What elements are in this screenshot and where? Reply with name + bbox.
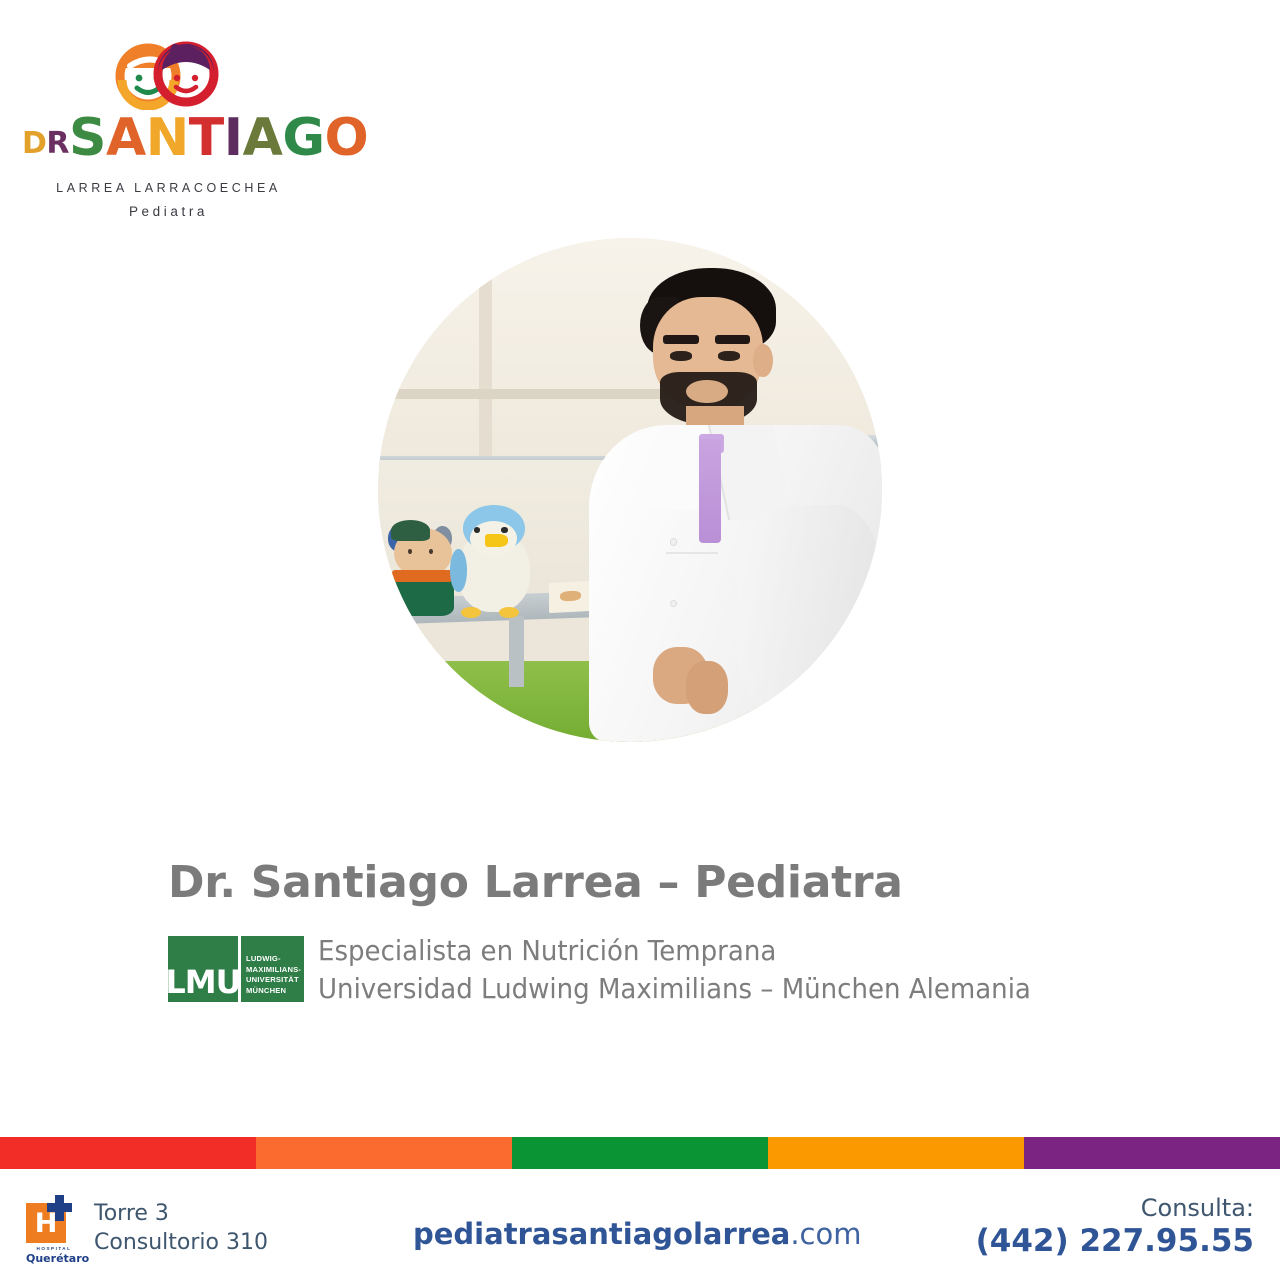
hospital-queretaro-logo: H HOSPITAL Querétaro <box>26 1195 82 1265</box>
credential-text: Especialista en Nutrición Temprana Unive… <box>318 932 1085 1008</box>
website-name: pediatrasantiagolarrea <box>413 1217 790 1251</box>
photo-canvas <box>378 238 882 742</box>
hospital-name: Querétaro <box>26 1252 82 1265</box>
consulta-label: Consulta: <box>976 1193 1254 1223</box>
address-block: Torre 3 Consultorio 310 <box>94 1199 268 1257</box>
footer: H HOSPITAL Querétaro Torre 3 Consultorio… <box>0 1169 1280 1280</box>
footer-contact: Consulta: (442) 227.95.55 <box>976 1193 1254 1259</box>
logo-wordmark: DRSANTIAGO <box>22 112 312 172</box>
credential-line-2: Universidad Ludwing Maximilians – Münche… <box>318 970 1031 1008</box>
lmu-name-square: LUDWIG- MAXIMILIANS- UNIVERSITÄT MÜNCHEN <box>241 936 304 1002</box>
plush-penguin-toy <box>449 505 540 616</box>
page-title: Dr. Santiago Larrea – Pediatra <box>168 858 903 908</box>
brand-color-bar <box>0 1137 1280 1169</box>
hospital-small-label: HOSPITAL <box>26 1246 82 1251</box>
colorbar-segment-orange <box>256 1137 512 1169</box>
lmu-line-1: LUDWIG- <box>246 954 301 965</box>
credential-line-1: Especialista en Nutrición Temprana <box>318 932 1031 970</box>
lmu-line-3: UNIVERSITÄT <box>246 975 301 986</box>
lmu-mark-text: LMU <box>165 967 240 997</box>
credential-block: LMU LUDWIG- MAXIMILIANS- UNIVERSITÄT MÜN… <box>168 932 1085 1008</box>
logo-surname: LARREA LARRACOECHEA <box>22 181 312 195</box>
colorbar-segment-amber <box>768 1137 1024 1169</box>
two-children-faces-icon <box>108 30 226 110</box>
doctor-figure <box>570 268 882 742</box>
doctor-portrait-photo <box>378 238 882 742</box>
hospital-mark-icon: H <box>26 1195 74 1243</box>
logo-specialty: Pediatra <box>22 204 312 219</box>
colorbar-segment-green <box>512 1137 768 1169</box>
website-link[interactable]: pediatrasantiagolarrea.com <box>413 1217 861 1251</box>
colorbar-segment-purple <box>1024 1137 1280 1169</box>
lmu-line-2: MAXIMILIANS- <box>246 965 301 976</box>
exam-table-leg <box>509 616 524 687</box>
address-line-2: Consultorio 310 <box>94 1228 268 1257</box>
lmu-logo: LMU LUDWIG- MAXIMILIANS- UNIVERSITÄT MÜN… <box>168 936 304 1002</box>
website-tld: .com <box>790 1217 861 1251</box>
window-mullion-vertical <box>479 238 492 460</box>
footer-location: H HOSPITAL Querétaro Torre 3 Consultorio… <box>26 1195 268 1265</box>
colorbar-segment-red <box>0 1137 256 1169</box>
brand-logo: DRSANTIAGO LARREA LARRACOECHEA Pediatra <box>22 30 312 219</box>
phone-number[interactable]: (442) 227.95.55 <box>976 1223 1254 1259</box>
lmu-mark-square: LMU <box>168 936 238 1002</box>
logo-prefix: DR <box>22 126 69 161</box>
address-line-1: Torre 3 <box>94 1199 268 1228</box>
lmu-line-4: MÜNCHEN <box>246 986 301 997</box>
